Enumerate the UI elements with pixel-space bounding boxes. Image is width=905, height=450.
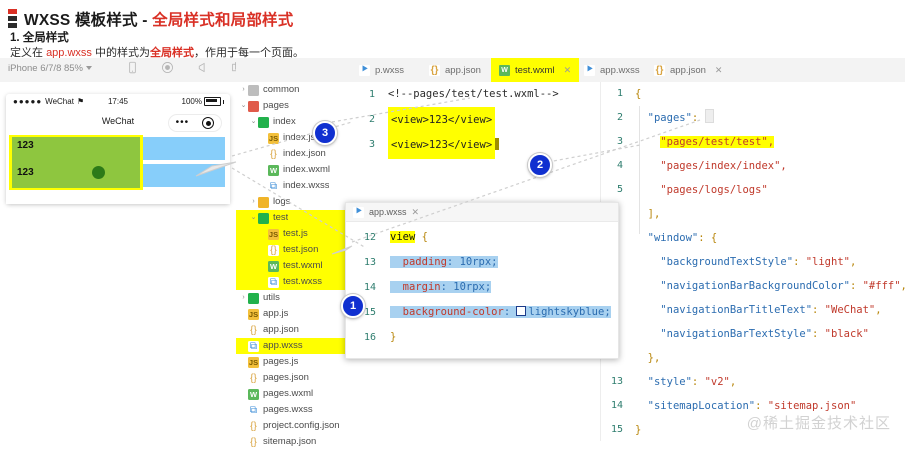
tree-item-app-js[interactable]: JSapp.js (236, 306, 356, 322)
json-line-10: "navigationBarTitleText": "WeChat", (635, 298, 905, 322)
wxss-file-icon: ⧉ (268, 277, 279, 288)
json-line-7: "window": { (635, 226, 905, 250)
code-line-2: <view>123</view> (388, 107, 616, 132)
line-number: 2 (356, 107, 380, 132)
json-line-1: { (635, 82, 905, 106)
tree-item-label: test.wxml (283, 258, 323, 274)
json-file-icon: {} (248, 373, 259, 384)
code-content[interactable]: view { padding: 10rpx; margin: 10rpx; ba… (390, 225, 616, 350)
simulator-panel: ●●●●● WeChat ⚑ 17:45 100% WeChat ••• 123 (0, 82, 236, 441)
tree-item-sitemap-json[interactable]: {}sitemap.json (236, 434, 356, 450)
line-number: 14 (601, 394, 629, 418)
code-line-2-text: <view>123</view> (388, 107, 495, 134)
js-file-icon: JS (268, 229, 279, 240)
tree-item-label: app.json (263, 322, 299, 338)
json-line-3: "pages/test/test", (635, 130, 905, 154)
tab-label: app.json (670, 65, 706, 76)
tree-item-label: test.json (283, 242, 318, 258)
json-key-pages: "pages" (648, 112, 692, 124)
wxss-line-12: view { (390, 225, 616, 250)
overlay-text-row1: 123 (17, 140, 34, 151)
json-close-window: }, (648, 352, 661, 364)
line-number: 13 (346, 250, 382, 275)
json-value-logs-page: "pages/logs/logs" (660, 184, 767, 196)
wxml-file-icon: W (268, 165, 279, 176)
tree-item-label: test (273, 210, 288, 226)
folder-icon (248, 101, 259, 112)
tab-label: test.wxml (515, 65, 555, 76)
tab-label: p.wxss (375, 65, 404, 76)
cursor-dot-icon (92, 166, 105, 179)
wxss-line-13: padding: 10rpx; (390, 250, 616, 275)
code-content[interactable]: { "pages": "pages/test/test", "pages/ind… (635, 82, 905, 442)
tab-app-json-a[interactable]: {} app.json (421, 58, 489, 82)
tree-item-label: pages.wxss (263, 402, 313, 418)
tab-label: app.wxss (600, 65, 640, 76)
json-file-icon: {} (248, 325, 259, 336)
wxss-icon: ⯈ (359, 65, 370, 76)
tree-item-pages-wxss[interactable]: ⧉pages.wxss (236, 402, 356, 418)
json-icon: {} (654, 65, 665, 76)
toolbar-icon-group (126, 61, 244, 74)
annotation-badge-3: 3 (313, 121, 337, 145)
json-value-style: "v2" (705, 376, 730, 388)
json-value-test-page: "pages/test/test", (660, 136, 774, 148)
device-label: iPhone 6/7/8 85% (8, 63, 83, 74)
css-selector-view: view (390, 231, 415, 243)
color-swatch-icon[interactable] (516, 306, 526, 316)
tree-item-label: index.wxml (283, 162, 330, 178)
tree-item-test-wxml[interactable]: Wtest.wxml (236, 258, 356, 274)
tree-item-test-wxss[interactable]: ⧉test.wxss (236, 274, 356, 290)
tree-item-label: index.json (283, 146, 326, 162)
json-line-12: }, (635, 346, 905, 370)
json-line-9: "navigationBarBackgroundColor": "#fff", (635, 274, 905, 298)
tree-item-pages-js[interactable]: JSpages.js (236, 354, 356, 370)
line-number: 1 (601, 82, 629, 106)
line-number: 2 (601, 106, 629, 130)
wxss-line-16: } (390, 325, 616, 350)
tree-item-label: index (273, 114, 296, 130)
more-dots-icon: ••• (176, 118, 190, 128)
chevron-icon[interactable]: ⌄ (249, 210, 258, 226)
tree-item-label: index.js (283, 130, 315, 146)
tree-item-label: project.config.json (263, 418, 340, 434)
json-value-bg-text-style: "light" (806, 256, 850, 268)
wxss-file-icon: ⧉ (248, 405, 259, 416)
tree-item-label: app.js (263, 306, 288, 322)
json-close-brace: } (635, 424, 641, 436)
close-icon[interactable]: ✕ (412, 207, 420, 218)
css-prop-padding: padding (403, 256, 447, 268)
tree-item-index-wxml[interactable]: Windex.wxml (236, 162, 356, 178)
line-number: 16 (346, 325, 382, 350)
capsule-button[interactable]: ••• (168, 114, 222, 132)
text-caret (495, 138, 499, 150)
tree-item-app-json[interactable]: {}app.json (236, 322, 356, 338)
tab-label: app.json (445, 65, 481, 76)
chevron-icon[interactable]: › (239, 82, 248, 98)
wxss-line-15: background-color: lightskyblue; (390, 300, 616, 325)
wxss-file-icon: ⧉ (268, 181, 279, 192)
annotation-badge-1: 1 (341, 294, 365, 318)
tree-item-test-js[interactable]: JStest.js (236, 226, 356, 242)
chevron-down-icon (86, 66, 92, 70)
megaphone-icon[interactable] (196, 61, 209, 74)
tree-item-label: test.js (283, 226, 308, 242)
tab-app-json-b[interactable]: {} app.json ✕ (646, 58, 730, 82)
json-value-navbar-text-style: "black" (825, 328, 869, 340)
json-value-navbar-bg-color: "#fff" (863, 280, 901, 292)
battery-indicator: 100% (182, 97, 224, 106)
css-value-padding: 10rpx; (453, 256, 497, 268)
tree-item-app-wxss[interactable]: ⧉app.wxss (236, 338, 356, 354)
tree-item-label: logs (273, 194, 290, 210)
phone-nav-bar: WeChat ••• (6, 110, 230, 134)
css-value-margin: 10rpx; (447, 281, 491, 293)
tree-item-utils[interactable]: ›utils (236, 290, 356, 306)
line-number: 5 (601, 178, 629, 202)
wxss-icon: ⯈ (353, 207, 364, 218)
code-line-1: <!--pages/test/test.wxml--> (388, 82, 616, 107)
code-line-3-text: <view>123</view> (388, 132, 495, 159)
phone-status-bar: ●●●●● WeChat ⚑ 17:45 100% (6, 94, 230, 110)
line-number: 15 (601, 418, 629, 442)
wxss-tab-label[interactable]: app.wxss (369, 207, 407, 217)
folder-icon (258, 213, 269, 224)
document-header: WXSS 模板样式 - 全局样式和局部样式 1. 全局样式 定义在 app.wx… (0, 0, 905, 58)
json-key-style: "style" (648, 376, 692, 388)
json-icon: {} (429, 65, 440, 76)
css-value-background-color: lightskyblue; (528, 306, 610, 318)
json-line-6: ], (635, 202, 905, 226)
tree-item-label: utils (263, 290, 280, 306)
page-title: WXSS 模板样式 - 全局样式和局部样式 (8, 8, 293, 30)
overlay-text-row2: 123 (17, 167, 34, 178)
json-line-13: "style": "v2", (635, 370, 905, 394)
chevron-icon[interactable]: ⌄ (239, 98, 248, 114)
json-key-sitemap: "sitemapLocation" (648, 400, 755, 412)
close-icon[interactable]: ✕ (564, 65, 572, 76)
css-prop-background-color: background-color (403, 306, 504, 318)
tab-test-wxml[interactable]: W test.wxml ✕ (491, 58, 579, 82)
json-value-index-page: "pages/index/index", (660, 160, 786, 172)
battery-label: 100% (182, 97, 202, 106)
folder-icon (258, 117, 269, 128)
wxss-line-14: margin: 10rpx; (390, 275, 616, 300)
folder-icon (248, 293, 259, 304)
json-key-navbar-text-style: "navigationBarTextStyle" (660, 328, 812, 340)
code-content[interactable]: <!--pages/test/test.wxml--> <view>123</v… (388, 82, 616, 157)
json-line-8: "backgroundTextStyle": "light", (635, 250, 905, 274)
tree-item-label: app.wxss (263, 338, 303, 354)
section-subtitle: 1. 全局样式 (10, 29, 69, 45)
folder-icon (248, 85, 259, 96)
json-file-icon: {} (268, 149, 279, 160)
tree-item-test-json[interactable]: {}test.json (236, 242, 356, 258)
json-file-icon: {} (248, 437, 259, 448)
json-value-navbar-title: "WeChat" (825, 304, 876, 316)
editor-app-json[interactable]: 1 2 3 4 5 13 14 15 { "pages": "pages/tes… (600, 82, 905, 441)
title-marker-icon (8, 9, 17, 30)
json-file-icon: {} (268, 245, 279, 256)
record-icon[interactable] (161, 61, 174, 74)
fold-box-icon[interactable] (705, 109, 714, 123)
json-line-11: "navigationBarTextStyle": "black" (635, 322, 905, 346)
phone-frame: ●●●●● WeChat ⚑ 17:45 100% WeChat ••• 123 (6, 94, 230, 204)
tree-item-pages[interactable]: ⌄pages (236, 98, 356, 114)
json-key-window: "window" (648, 232, 699, 244)
tree-item-label: pages.json (263, 370, 309, 386)
line-number: 4 (601, 154, 629, 178)
close-icon[interactable]: ✕ (715, 65, 723, 76)
css-prop-margin: margin (403, 281, 441, 293)
page-title-accent: 全局样式和局部样式 (152, 12, 293, 29)
wxss-tabbar: ⯈ app.wxss ✕ (346, 203, 618, 222)
phone-icon[interactable] (126, 61, 139, 74)
json-value-sitemap: "sitemap.json" (768, 400, 857, 412)
tab-app-wxss[interactable]: ⯈ app.wxss (576, 58, 648, 82)
js-file-icon: JS (268, 133, 279, 144)
watermark: @稀土掘金技术社区 (747, 412, 891, 433)
tree-item-index[interactable]: ⌄index (236, 114, 356, 130)
line-number: 13 (601, 370, 629, 394)
annotation-badge-2: 2 (528, 153, 552, 177)
battery-tip-icon (223, 100, 224, 104)
device-selector[interactable]: iPhone 6/7/8 85% (8, 63, 92, 74)
phone-content: 123 123 123 123 (6, 134, 230, 204)
tree-item-label: pages (263, 98, 289, 114)
json-line-2: "pages": (635, 106, 905, 130)
json-close-array: ], (648, 208, 661, 220)
json-key-navbar-bg-color: "navigationBarBackgroundColor" (660, 280, 850, 292)
tree-item-pages-json[interactable]: {}pages.json (236, 370, 356, 386)
line-number: 1 (356, 82, 380, 107)
json-open-brace: { (635, 88, 641, 100)
code-line-3: <view>123</view> (388, 132, 616, 157)
line-number: 12 (346, 225, 382, 250)
json-file-icon: {} (248, 421, 259, 432)
css-close-brace: } (390, 331, 396, 343)
line-number: 3 (601, 130, 629, 154)
tree-item-project-config-json[interactable]: {}project.config.json (236, 418, 356, 434)
wxml-icon: W (499, 65, 510, 76)
chevron-icon[interactable]: › (249, 194, 258, 210)
js-file-icon: JS (248, 357, 259, 368)
js-file-icon: JS (248, 309, 259, 320)
folder-icon (258, 197, 269, 208)
tree-item-label: sitemap.json (263, 434, 316, 450)
tab-p-wxss[interactable]: ⯈ p.wxss (351, 58, 412, 82)
tree-item-label: pages.js (263, 354, 298, 370)
line-number: 3 (356, 132, 380, 157)
tree-item-label: pages.wxml (263, 386, 313, 402)
close-circle-icon[interactable] (202, 117, 214, 129)
tree-item-logs[interactable]: ›logs (236, 194, 356, 210)
battery-icon (204, 97, 221, 106)
chevron-icon[interactable]: ⌄ (249, 114, 258, 130)
json-key-bg-text-style: "backgroundTextStyle" (660, 256, 793, 268)
tree-item-test[interactable]: ⌄test (236, 210, 356, 226)
tree-item-index-json[interactable]: {}index.json (236, 146, 356, 162)
tree-item-label: common (263, 82, 299, 98)
editor-tabbar: ⯈ p.wxss {} app.json W test.wxml ✕ ⯈ app… (236, 58, 905, 83)
tree-item-label: test.wxss (283, 274, 322, 290)
file-explorer-tree[interactable]: ›common⌄pages⌄indexJSindex.js{}index.jso… (236, 82, 357, 441)
json-key-navbar-title: "navigationBarTitleText" (660, 304, 812, 316)
tree-item-pages-wxml[interactable]: Wpages.wxml (236, 386, 356, 402)
wxss-icon: ⯈ (584, 65, 595, 76)
line-number-gutter: 1 2 3 (356, 82, 380, 157)
wxss-file-icon: ⧉ (248, 341, 259, 352)
editor-app-wxss-panel[interactable]: ⯈ app.wxss ✕ 12 13 14 15 16 view { paddi… (345, 202, 619, 359)
wxml-file-icon: W (248, 389, 259, 400)
chevron-icon[interactable]: › (239, 290, 248, 306)
tree-item-index-js[interactable]: JSindex.js (236, 130, 356, 146)
tree-item-index-wxss[interactable]: ⧉index.wxss (236, 178, 356, 194)
json-line-4: "pages/index/index", (635, 154, 905, 178)
wxml-file-icon: W (268, 261, 279, 272)
page-title-main: WXSS 模板样式 - (24, 12, 152, 29)
tree-item-label: index.wxss (283, 178, 329, 194)
css-open-brace: { (415, 231, 428, 243)
line-number-gutter: 12 13 14 15 16 (346, 225, 382, 350)
json-line-5: "pages/logs/logs" (635, 178, 905, 202)
tree-item-common[interactable]: ›common (236, 82, 356, 98)
